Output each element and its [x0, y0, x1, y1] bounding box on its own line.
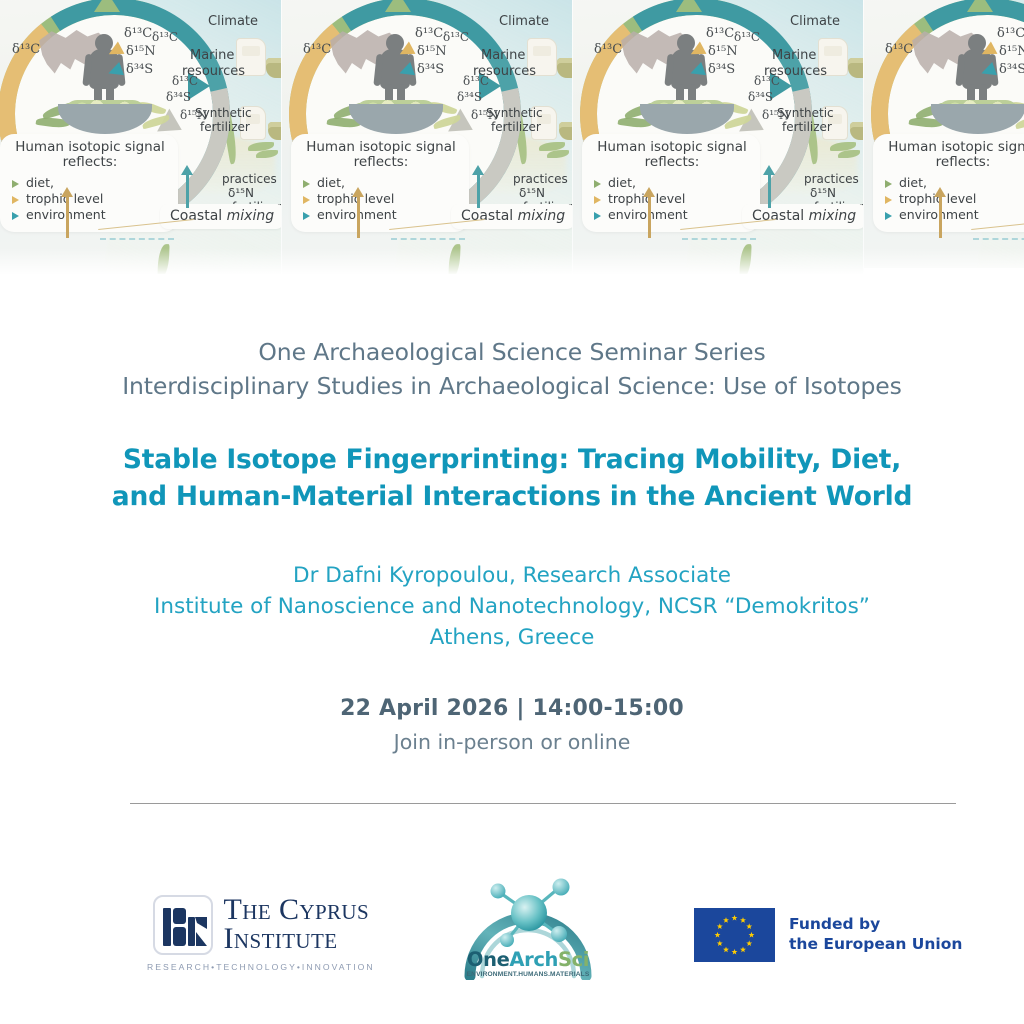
coastal-mixing-callout: Coastal mixing	[451, 204, 572, 229]
isotope-cycle-infographic-banner: δ¹³Cδ¹⁵Nδ³⁴Sδ¹³CHuman isotopic signalref…	[0, 0, 1024, 274]
up-arrow-teal	[477, 174, 480, 208]
speaker-location: Athens, Greece	[0, 622, 1024, 653]
fertilizer-pot	[557, 58, 572, 78]
poster-text-content: One Archaeological Science Seminar Serie…	[0, 274, 1024, 754]
horizontal-divider	[130, 803, 956, 804]
isotope-label-left-d13c: δ¹³C	[594, 42, 622, 57]
eu-funding-text: Funded by the European Union	[789, 915, 962, 955]
isotope-label-d34s: δ³⁴S	[999, 62, 1024, 77]
label-c3-plants-note: (low δ¹³C)	[714, 0, 768, 1]
label-c3-plants-note: (low δ¹³C)	[132, 0, 186, 1]
cyi-monogram-glyph	[162, 904, 204, 946]
callout-title: Human isotopic signalreflects:	[10, 140, 170, 171]
tile-seam	[863, 0, 864, 274]
bullet-arrow-icon	[12, 196, 19, 204]
callout-title: Human isotopic signalreflects:	[592, 140, 752, 171]
coastal-mixing-italic: mixing	[518, 208, 565, 224]
onearchsci-logo: OneArchSci ENVIRONMENT.HUMANS.MATERIALS	[452, 850, 604, 990]
label-fertilizer: fertilizer	[200, 120, 250, 134]
bullet-arrow-icon	[12, 180, 19, 188]
callout-item: diet,	[10, 175, 170, 191]
arrow-head-green-icon	[676, 0, 702, 12]
fertilizer-pot	[266, 58, 281, 78]
cyprus-institute-wordmark: The Cyprus Institute	[224, 896, 370, 954]
talk-title: Stable Isotope Fingerprinting: Tracing M…	[0, 441, 1024, 516]
isotope-label-d13c: δ¹³C	[706, 26, 734, 41]
up-arrow-gold	[939, 196, 942, 238]
bowl-rim	[349, 104, 443, 134]
onearchsci-molecule-icon	[486, 876, 572, 950]
bullet-arrow-icon	[594, 212, 601, 220]
logo-row: The Cyprus Institute RESEARCH•TECHNOLOGY…	[0, 840, 1024, 1000]
isotope-label-top-d13c: δ¹³C	[734, 30, 760, 44]
bullet-arrow-icon	[885, 212, 892, 220]
eu-funding-line-1: Funded by	[789, 915, 962, 935]
label-climate: Climate	[499, 14, 549, 29]
callout-item: environment	[592, 207, 752, 223]
isotope-label-d13c: δ¹³C	[415, 26, 443, 41]
arrow-head-green-icon	[967, 0, 993, 12]
isotope-label-top-d13c: δ¹³C	[443, 30, 469, 44]
isotope-label-d15n: δ¹⁵N	[999, 44, 1024, 59]
callout-item: trophic level	[10, 191, 170, 207]
infographic-tile: δ¹³Cδ¹⁵Nδ³⁴Sδ¹³CHuman isotopic signalref…	[572, 0, 863, 274]
up-arrow-teal	[768, 174, 771, 208]
callout-item: trophic level	[883, 191, 1024, 207]
isotope-label-marine-d15n: δ¹⁵N	[762, 108, 789, 122]
label-practices-d15n: δ¹⁵N	[228, 186, 254, 200]
label-practices-d15n: δ¹⁵N	[810, 186, 836, 200]
callout-list: diet,trophic levelenvironment	[883, 175, 1024, 224]
bullet-arrow-icon	[303, 180, 310, 188]
up-arrow-gold	[648, 196, 651, 238]
bowl-rim	[640, 104, 734, 134]
up-arrow-gold	[66, 196, 69, 238]
bowl-rim	[58, 104, 152, 134]
callout-list: diet,trophic levelenvironment	[10, 175, 170, 224]
human-isotopic-signal-callout: Human isotopic signalreflects:diet,troph…	[582, 134, 760, 232]
speaker-name-and-role: Dr Dafni Kyropoulou, Research Associate	[0, 560, 1024, 591]
callout-item: trophic level	[301, 191, 461, 207]
infographic-tile: δ¹³Cδ¹⁵Nδ³⁴Sδ¹³CHuman isotopic signalref…	[0, 0, 281, 274]
label-practices: practices	[222, 172, 277, 186]
isotope-label-d34s: δ³⁴S	[417, 62, 444, 77]
onearchsci-word-one: One	[467, 948, 510, 971]
event-attendance-mode: Join in-person or online	[0, 730, 1024, 754]
label-c3-plants-note: (low δ¹³C)	[1005, 0, 1024, 1]
up-arrow-gold	[357, 196, 360, 238]
speaker-affiliation: Institute of Nanoscience and Nanotechnol…	[0, 591, 1024, 622]
cyprus-institute-logo-row: The Cyprus Institute	[153, 895, 370, 955]
seminar-series-subtitle: Interdisciplinary Studies in Archaeologi…	[0, 370, 1024, 402]
callout-item: diet,	[592, 175, 752, 191]
onearchsci-word-sci: Sci	[558, 948, 589, 971]
eu-funding-line-2: the European Union	[789, 935, 962, 955]
isotope-label-d13c: δ¹³C	[997, 26, 1024, 41]
arrow-head-green-icon	[385, 0, 411, 12]
dashed-connector	[100, 238, 174, 240]
up-arrow-teal	[186, 174, 189, 208]
isotope-label-d34s: δ³⁴S	[126, 62, 153, 77]
isotope-label-marine-d34s: δ³⁴S	[166, 90, 191, 104]
cyprus-institute-wordmark-line-1: The Cyprus	[224, 896, 370, 925]
coastal-mixing-callout: Coastal mixing	[160, 204, 281, 229]
talk-title-line-1: Stable Isotope Fingerprinting: Tracing M…	[70, 441, 954, 479]
isotope-label-left-d13c: δ¹³C	[12, 42, 40, 57]
human-isotopic-signal-callout: Human isotopic signalreflects:diet,troph…	[873, 134, 1024, 232]
label-marine-line-1: Marine	[190, 48, 234, 63]
food-bowl-icon	[58, 98, 152, 138]
bowl-rim	[931, 104, 1024, 134]
coastal-mixing-callout: Coastal mixing	[742, 204, 863, 229]
isotope-label-left-d13c: δ¹³C	[885, 42, 913, 57]
bullet-arrow-icon	[594, 180, 601, 188]
isotope-label-left-d13c: δ¹³C	[303, 42, 331, 57]
european-union-funding-logo: Funded by the European Union	[694, 908, 962, 962]
bullet-arrow-icon	[594, 196, 601, 204]
event-date-time: 22 April 2026 | 14:00-15:00	[0, 696, 1024, 721]
label-climate: Climate	[208, 14, 258, 29]
infographic-tile: δ¹³Cδ¹⁵Nδ³⁴Sδ¹³CHuman isotopic signalref…	[281, 0, 572, 274]
arrow-head-green-icon	[94, 0, 120, 12]
onearchsci-tagline: ENVIRONMENT.HUMANS.MATERIALS	[452, 971, 604, 978]
callout-list: diet,trophic levelenvironment	[592, 175, 752, 224]
talk-title-line-2: and Human-Material Interactions in the A…	[70, 478, 954, 516]
isotope-label-d34s: δ³⁴S	[708, 62, 735, 77]
callout-title: Human isotopic signalreflects:	[883, 140, 1024, 171]
food-bowl-icon	[931, 98, 1024, 138]
isotope-label-d15n: δ¹⁵N	[126, 44, 156, 59]
bullet-arrow-icon	[885, 180, 892, 188]
human-isotopic-signal-callout: Human isotopic signalreflects:diet,troph…	[0, 134, 178, 232]
isotope-label-marine-d13c: δ¹³C	[463, 74, 489, 88]
callout-item: trophic level	[592, 191, 752, 207]
human-isotopic-signal-callout: Human isotopic signalreflects:diet,troph…	[291, 134, 469, 232]
label-practices: practices	[804, 172, 859, 186]
isotope-label-marine-d34s: δ³⁴S	[457, 90, 482, 104]
infographic-tile: δ¹³Cδ¹⁵Nδ³⁴Sδ¹³CHuman isotopic signalref…	[863, 0, 1024, 274]
isotope-label-marine-d15n: δ¹⁵N	[180, 108, 207, 122]
label-fertilizer: fertilizer	[491, 120, 541, 134]
label-c3-plants-note: (low δ¹³C)	[423, 0, 477, 1]
isotope-label-marine-d13c: δ¹³C	[754, 74, 780, 88]
cyprus-institute-monogram-icon	[153, 895, 213, 955]
seminar-series-name: One Archaeological Science Seminar Serie…	[0, 336, 1024, 368]
callout-item: environment	[10, 207, 170, 223]
bullet-arrow-icon	[303, 196, 310, 204]
label-climate: Climate	[790, 14, 840, 29]
onearchsci-wordmark: OneArchSci	[452, 948, 604, 971]
banner-tile-strip: δ¹³Cδ¹⁵Nδ³⁴Sδ¹³CHuman isotopic signalref…	[0, 0, 1024, 274]
label-marine-line-1: Marine	[772, 48, 816, 63]
isotope-label-marine-d13c: δ¹³C	[172, 74, 198, 88]
callout-list: diet,trophic levelenvironment	[301, 175, 461, 224]
isotope-label-top-d13c: δ¹³C	[152, 30, 178, 44]
isotope-label-d15n: δ¹⁵N	[708, 44, 738, 59]
callout-item: environment	[301, 207, 461, 223]
cyprus-institute-wordmark-line-2: Institute	[224, 925, 370, 954]
bullet-arrow-icon	[12, 212, 19, 220]
dashed-connector	[391, 238, 465, 240]
coastal-mixing-italic: mixing	[227, 208, 274, 224]
food-bowl-icon	[640, 98, 734, 138]
fertilizer-pot	[848, 58, 863, 78]
dashed-connector	[682, 238, 756, 240]
dashed-connector	[973, 238, 1024, 240]
isotope-label-d13c: δ¹³C	[124, 26, 152, 41]
seminar-announcement-poster: δ¹³Cδ¹⁵Nδ³⁴Sδ¹³CHuman isotopic signalref…	[0, 0, 1024, 1024]
isotope-label-marine-d15n: δ¹⁵N	[471, 108, 498, 122]
callout-item: diet,	[883, 175, 1024, 191]
cyprus-institute-tagline: RESEARCH•TECHNOLOGY•INNOVATION	[147, 962, 375, 972]
callout-item: diet,	[301, 175, 461, 191]
callout-title: Human isotopic signalreflects:	[301, 140, 461, 171]
label-practices-d15n: δ¹⁵N	[519, 186, 545, 200]
label-fertilizer: fertilizer	[782, 120, 832, 134]
callout-item: environment	[883, 207, 1024, 223]
onearchsci-word-arch: Arch	[509, 948, 558, 971]
bullet-arrow-icon	[885, 196, 892, 204]
isotope-label-marine-d34s: δ³⁴S	[748, 90, 773, 104]
label-practices: practices	[513, 172, 568, 186]
isotope-label-d15n: δ¹⁵N	[417, 44, 447, 59]
food-bowl-icon	[349, 98, 443, 138]
bullet-arrow-icon	[303, 212, 310, 220]
cyprus-institute-logo: The Cyprus Institute RESEARCH•TECHNOLOGY…	[147, 895, 375, 972]
coastal-mixing-italic: mixing	[809, 208, 856, 224]
tile-seam	[281, 0, 282, 274]
tile-seam	[572, 0, 573, 274]
eu-flag-icon	[694, 908, 775, 962]
label-marine-line-1: Marine	[481, 48, 525, 63]
